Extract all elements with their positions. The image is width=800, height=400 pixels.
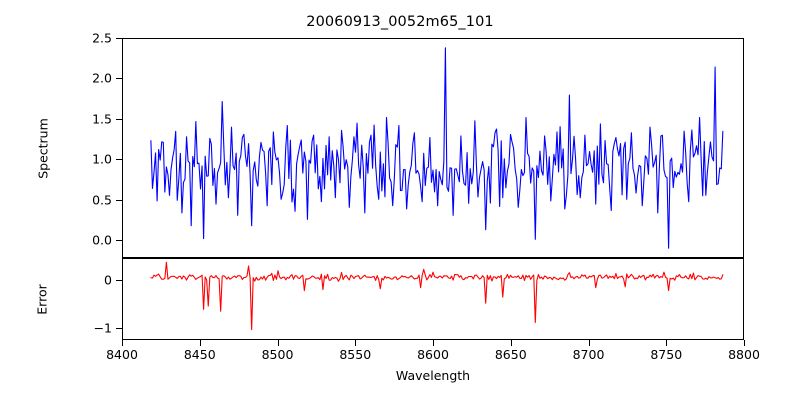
x-tick-mark bbox=[666, 340, 667, 346]
spectrum-figure: 20060913_0052m65_101 Spectrum Error 0.00… bbox=[0, 0, 800, 400]
x-axis-label: Wavelength bbox=[122, 368, 744, 383]
x-tick-mark bbox=[744, 340, 745, 346]
spectrum-plot-area bbox=[122, 38, 744, 258]
error-y-tick-labels: −10 bbox=[0, 258, 112, 340]
x-tick-label: 8550 bbox=[339, 347, 371, 362]
x-tick-label: 8700 bbox=[573, 347, 605, 362]
y-tick-label: 2.5 bbox=[2, 31, 112, 46]
x-tick-label: 8500 bbox=[262, 347, 294, 362]
y-tick-label: 0 bbox=[2, 272, 112, 287]
error-trace bbox=[151, 262, 723, 329]
x-tick-mark bbox=[355, 340, 356, 346]
x-tick-label: 8750 bbox=[650, 347, 682, 362]
x-tick-label: 8450 bbox=[184, 347, 216, 362]
x-tick-mark bbox=[433, 340, 434, 346]
x-tick-mark bbox=[511, 340, 512, 346]
spectrum-series bbox=[123, 39, 743, 257]
x-tick-label: 8600 bbox=[417, 347, 449, 362]
x-tick-mark bbox=[200, 340, 201, 346]
x-tick-mark bbox=[278, 340, 279, 346]
x-tick-label: 8650 bbox=[495, 347, 527, 362]
y-tick-label: 1.0 bbox=[2, 152, 112, 167]
y-tick-label: 0.0 bbox=[2, 233, 112, 248]
x-tick-mark bbox=[589, 340, 590, 346]
error-plot-area bbox=[122, 258, 744, 340]
y-tick-label: −1 bbox=[2, 320, 112, 335]
y-tick-label: 0.5 bbox=[2, 192, 112, 207]
x-tick-labels: 840084508500855086008650870087508800 bbox=[122, 340, 744, 370]
y-tick-label: 2.0 bbox=[2, 71, 112, 86]
error-series bbox=[123, 259, 743, 339]
spectrum-trace bbox=[151, 48, 723, 248]
x-tick-label: 8800 bbox=[728, 347, 760, 362]
page-title: 20060913_0052m65_101 bbox=[0, 14, 800, 30]
x-tick-mark bbox=[122, 340, 123, 346]
x-tick-label: 8400 bbox=[106, 347, 138, 362]
spectrum-y-tick-labels: 0.00.51.01.52.02.5 bbox=[0, 38, 112, 258]
y-tick-label: 1.5 bbox=[2, 111, 112, 126]
